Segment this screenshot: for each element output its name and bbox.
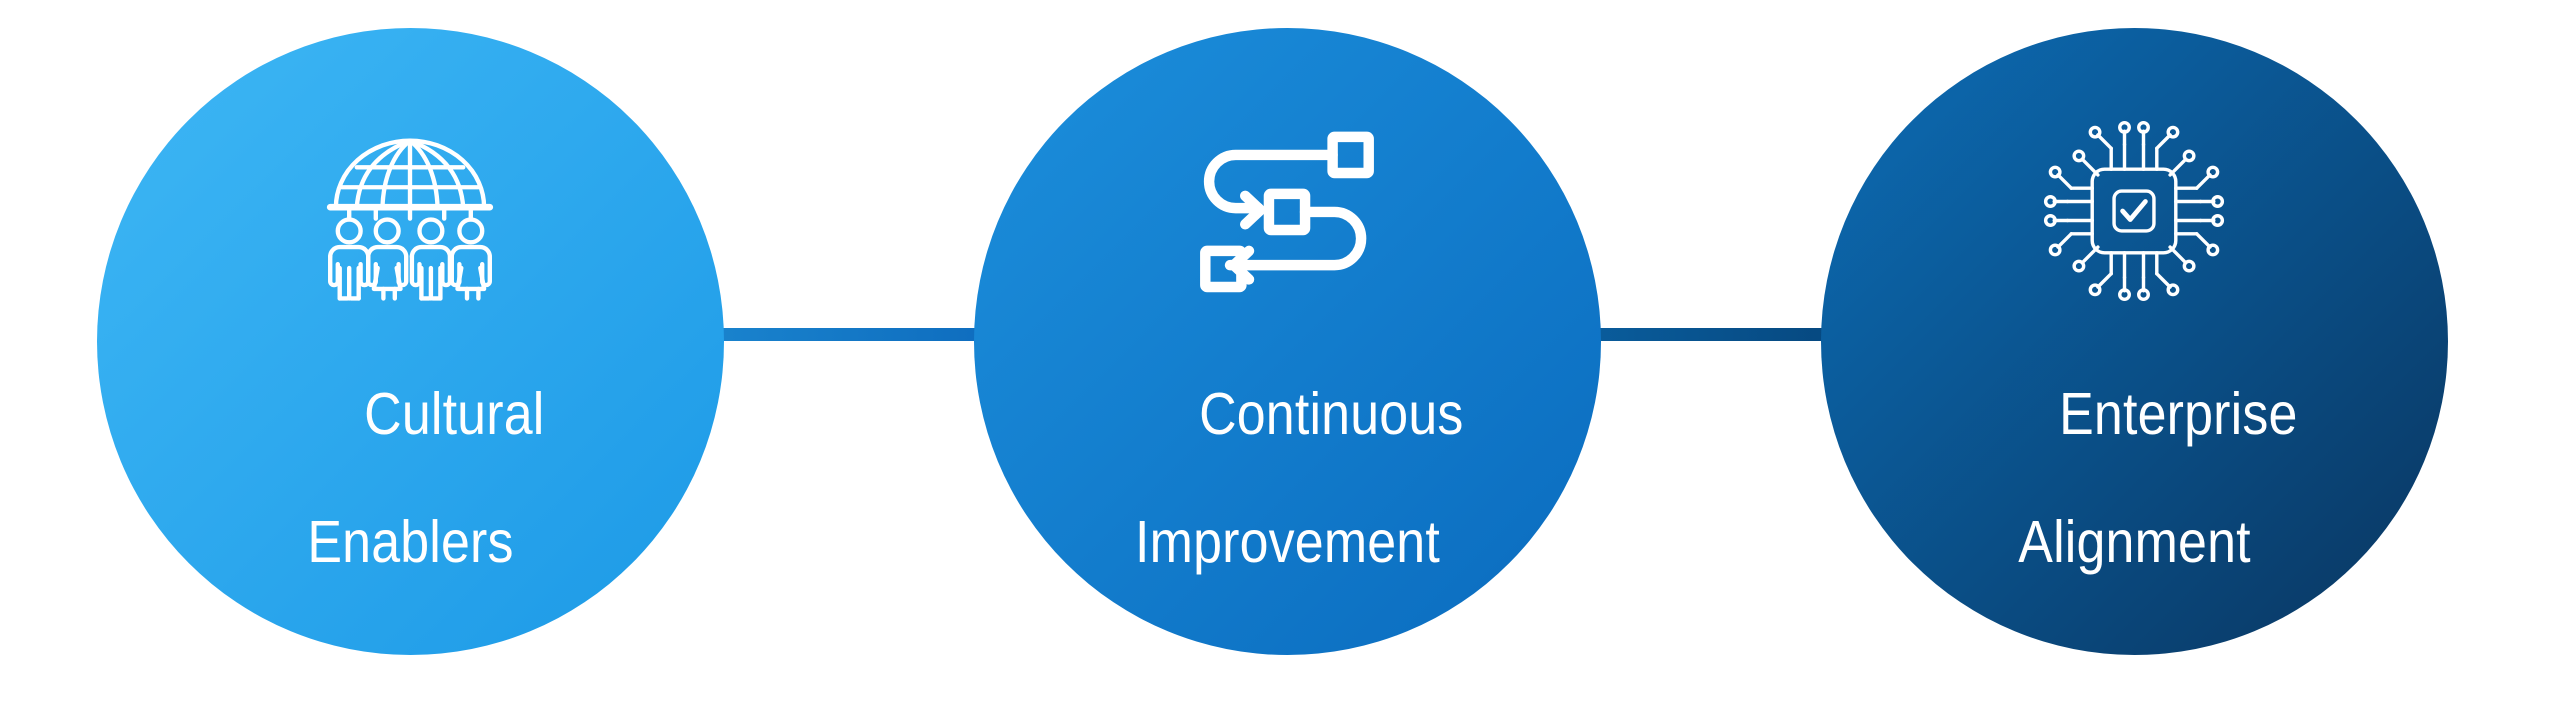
label-line-2: Enablers — [134, 511, 686, 575]
process-flow-icon — [1192, 116, 1382, 306]
label-line-1: Cultural — [364, 381, 544, 447]
node-label-cultural-enablers: Cultural Enablers — [134, 320, 686, 702]
label-line-1: Enterprise — [2059, 381, 2297, 447]
node-continuous-improvement[interactable]: Continuous Improvement — [974, 28, 1601, 655]
label-line-2: Alignment — [1858, 511, 2410, 575]
label-line-1: Continuous — [1199, 381, 1463, 447]
label-line-2: Improvement — [1011, 511, 1563, 575]
node-label-enterprise-alignment: Enterprise Alignment — [1858, 320, 2410, 702]
globe-people-icon — [315, 116, 505, 306]
diagram-canvas: Cultural Enablers — [0, 0, 2574, 670]
connector-continuous-to-enterprise — [1570, 328, 1850, 341]
connector-cultural-to-continuous — [700, 328, 1000, 341]
node-cultural-enablers[interactable]: Cultural Enablers — [97, 28, 724, 655]
cpu-check-icon — [2039, 116, 2229, 306]
node-label-continuous-improvement: Continuous Improvement — [1011, 320, 1563, 702]
node-enterprise-alignment[interactable]: Enterprise Alignment — [1821, 28, 2448, 655]
